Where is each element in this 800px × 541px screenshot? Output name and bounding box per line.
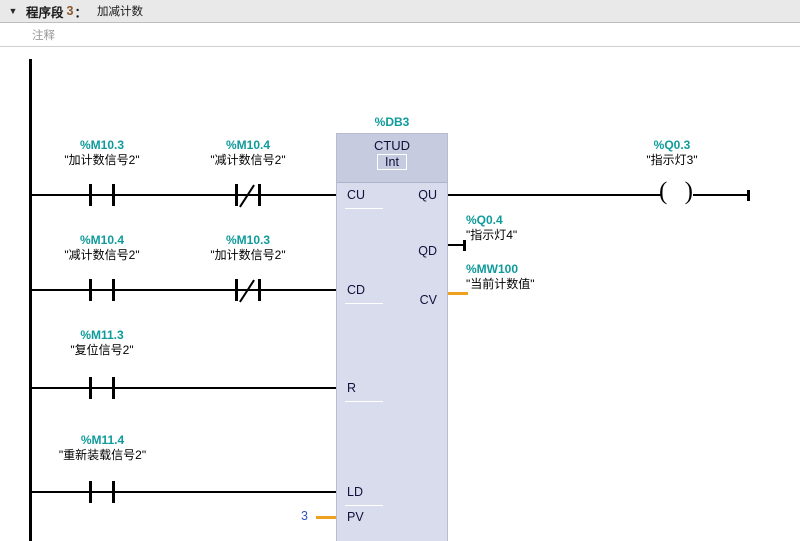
- comment-placeholder: 注释: [32, 27, 55, 43]
- contact-nc-m10-4-cu[interactable]: [235, 184, 261, 206]
- block-db-address: %DB3: [336, 115, 448, 129]
- rung-wire-cu: [29, 194, 336, 196]
- operand-label-q0-4: %Q0.4 "指示灯4": [466, 213, 606, 243]
- pin-ld[interactable]: LD: [347, 485, 363, 499]
- cv-wire: [448, 292, 468, 295]
- network-number: 3: [64, 4, 75, 18]
- pin-cd[interactable]: CD: [347, 283, 365, 297]
- block-type-name: CTUD: [337, 138, 447, 153]
- network-colon: ：: [74, 2, 97, 21]
- contact-no-m10-4-cd[interactable]: [89, 279, 115, 301]
- rung-wire-ld: [29, 491, 336, 493]
- pin-r[interactable]: R: [347, 381, 356, 395]
- contact-no-m11-4-ld[interactable]: [89, 481, 115, 503]
- operand-label-mw100: %MW100 "当前计数值": [466, 262, 616, 292]
- contact-nc-m10-3-cd[interactable]: [235, 279, 261, 301]
- power-rail: [29, 59, 32, 541]
- contact-label-cd-1: %M10.4 "减计数信号2": [42, 233, 162, 263]
- ladder-editor-window: ▼ 程序段 3 ： 加减计数 注释 %M10.3 "加计数信号2" %M10.4…: [0, 0, 800, 541]
- rung-wire-r: [29, 387, 336, 389]
- qd-wire-terminator: [463, 240, 466, 251]
- pin-cv[interactable]: CV: [420, 293, 437, 307]
- contact-label-cd-2: %M10.3 "加计数信号2": [188, 233, 308, 263]
- rung-wire-cd: [29, 289, 336, 291]
- block-header: CTUD Int: [337, 134, 447, 183]
- network-comment-row[interactable]: 注释: [0, 23, 800, 47]
- network-label: 程序段: [26, 2, 64, 21]
- coil-q0-3[interactable]: ( ): [659, 183, 693, 207]
- contact-no-m11-3-r[interactable]: [89, 377, 115, 399]
- pin-qd[interactable]: QD: [418, 244, 437, 258]
- block-data-type[interactable]: Int: [377, 154, 407, 170]
- network-header: ▼ 程序段 3 ： 加减计数: [0, 0, 800, 23]
- qu-wire-right: [693, 194, 749, 196]
- pv-wire: [316, 516, 336, 519]
- chevron-down-icon[interactable]: ▼: [0, 0, 26, 22]
- network-title-text: 加减计数: [97, 3, 143, 19]
- contact-label-cu-2: %M10.4 "减计数信号2": [188, 138, 308, 168]
- pin-pv[interactable]: PV: [347, 510, 364, 524]
- qu-wire-left: [448, 194, 661, 196]
- pin-qu[interactable]: QU: [418, 188, 437, 202]
- contact-label-cu-1: %M10.3 "加计数信号2": [42, 138, 162, 168]
- ctud-function-block[interactable]: CTUD Int CU CD R LD PV QU QD CV: [336, 133, 448, 541]
- qu-wire-terminator: [747, 190, 750, 201]
- coil-label-q0-3: %Q0.3 "指示灯3": [612, 138, 732, 168]
- pin-cu[interactable]: CU: [347, 188, 365, 202]
- contact-label-r-1: %M11.3 "复位信号2": [42, 328, 162, 358]
- contact-no-m10-3-cu[interactable]: [89, 184, 115, 206]
- contact-label-ld-1: %M11.4 "重新装载信号2": [30, 433, 175, 463]
- ladder-canvas: %M10.3 "加计数信号2" %M10.4 "减计数信号2" %M10.4 "…: [0, 47, 800, 541]
- pv-constant-value[interactable]: 3: [280, 509, 308, 523]
